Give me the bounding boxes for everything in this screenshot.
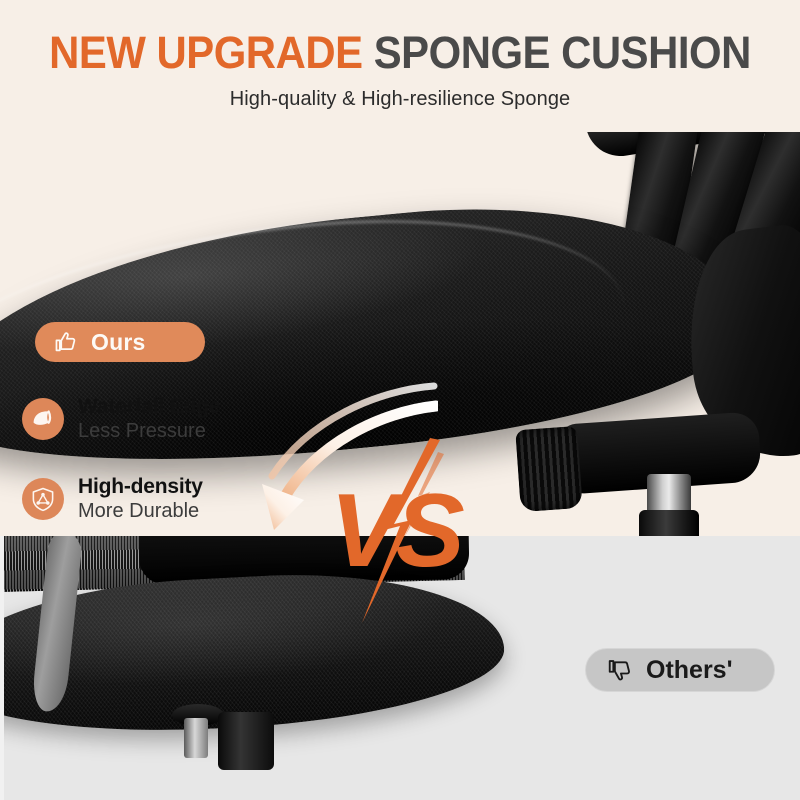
waterfall-edge-icon [22, 398, 64, 440]
feature-subtitle: More Durable [78, 500, 203, 524]
tension-knob [515, 426, 583, 512]
page-title: NEW UPGRADE SPONGE CUSHION [28, 27, 772, 79]
feature-title: High-density [78, 475, 203, 500]
header: NEW UPGRADE SPONGE CUSHION High-quality … [0, 0, 800, 132]
versus-graphic: VS [326, 438, 466, 623]
others-badge-label: Others' [646, 656, 733, 685]
thumbs-down-icon [606, 656, 634, 684]
versus-label: VS [330, 473, 464, 589]
feature-title: Waterfall Edge [78, 395, 220, 420]
thumbs-up-icon [53, 329, 79, 355]
others-gas-cylinder-sleeve [218, 712, 274, 770]
ours-badge-label: Ours [91, 329, 145, 356]
feature-row: High-density More Durable [22, 470, 272, 528]
others-gas-cylinder-chrome [184, 718, 208, 758]
feature-subtitle: Less Pressure [78, 420, 220, 444]
page-subtitle: High-quality & High-resilience Sponge [0, 88, 800, 111]
others-badge[interactable]: Others' [585, 648, 775, 692]
title-rest-text: SPONGE CUSHION [374, 27, 751, 78]
product-comparison-infographic: NEW UPGRADE SPONGE CUSHION High-quality … [0, 0, 800, 800]
ours-badge[interactable]: Ours [35, 322, 205, 362]
title-accent-text: NEW UPGRADE [49, 27, 362, 78]
feature-row: Waterfall Edge Less Pressure [22, 390, 272, 448]
shield-density-icon [22, 478, 64, 520]
gas-cylinder-sleeve [639, 510, 699, 536]
ours-feature-list: Waterfall Edge Less Pressure High-densit… [22, 390, 272, 536]
